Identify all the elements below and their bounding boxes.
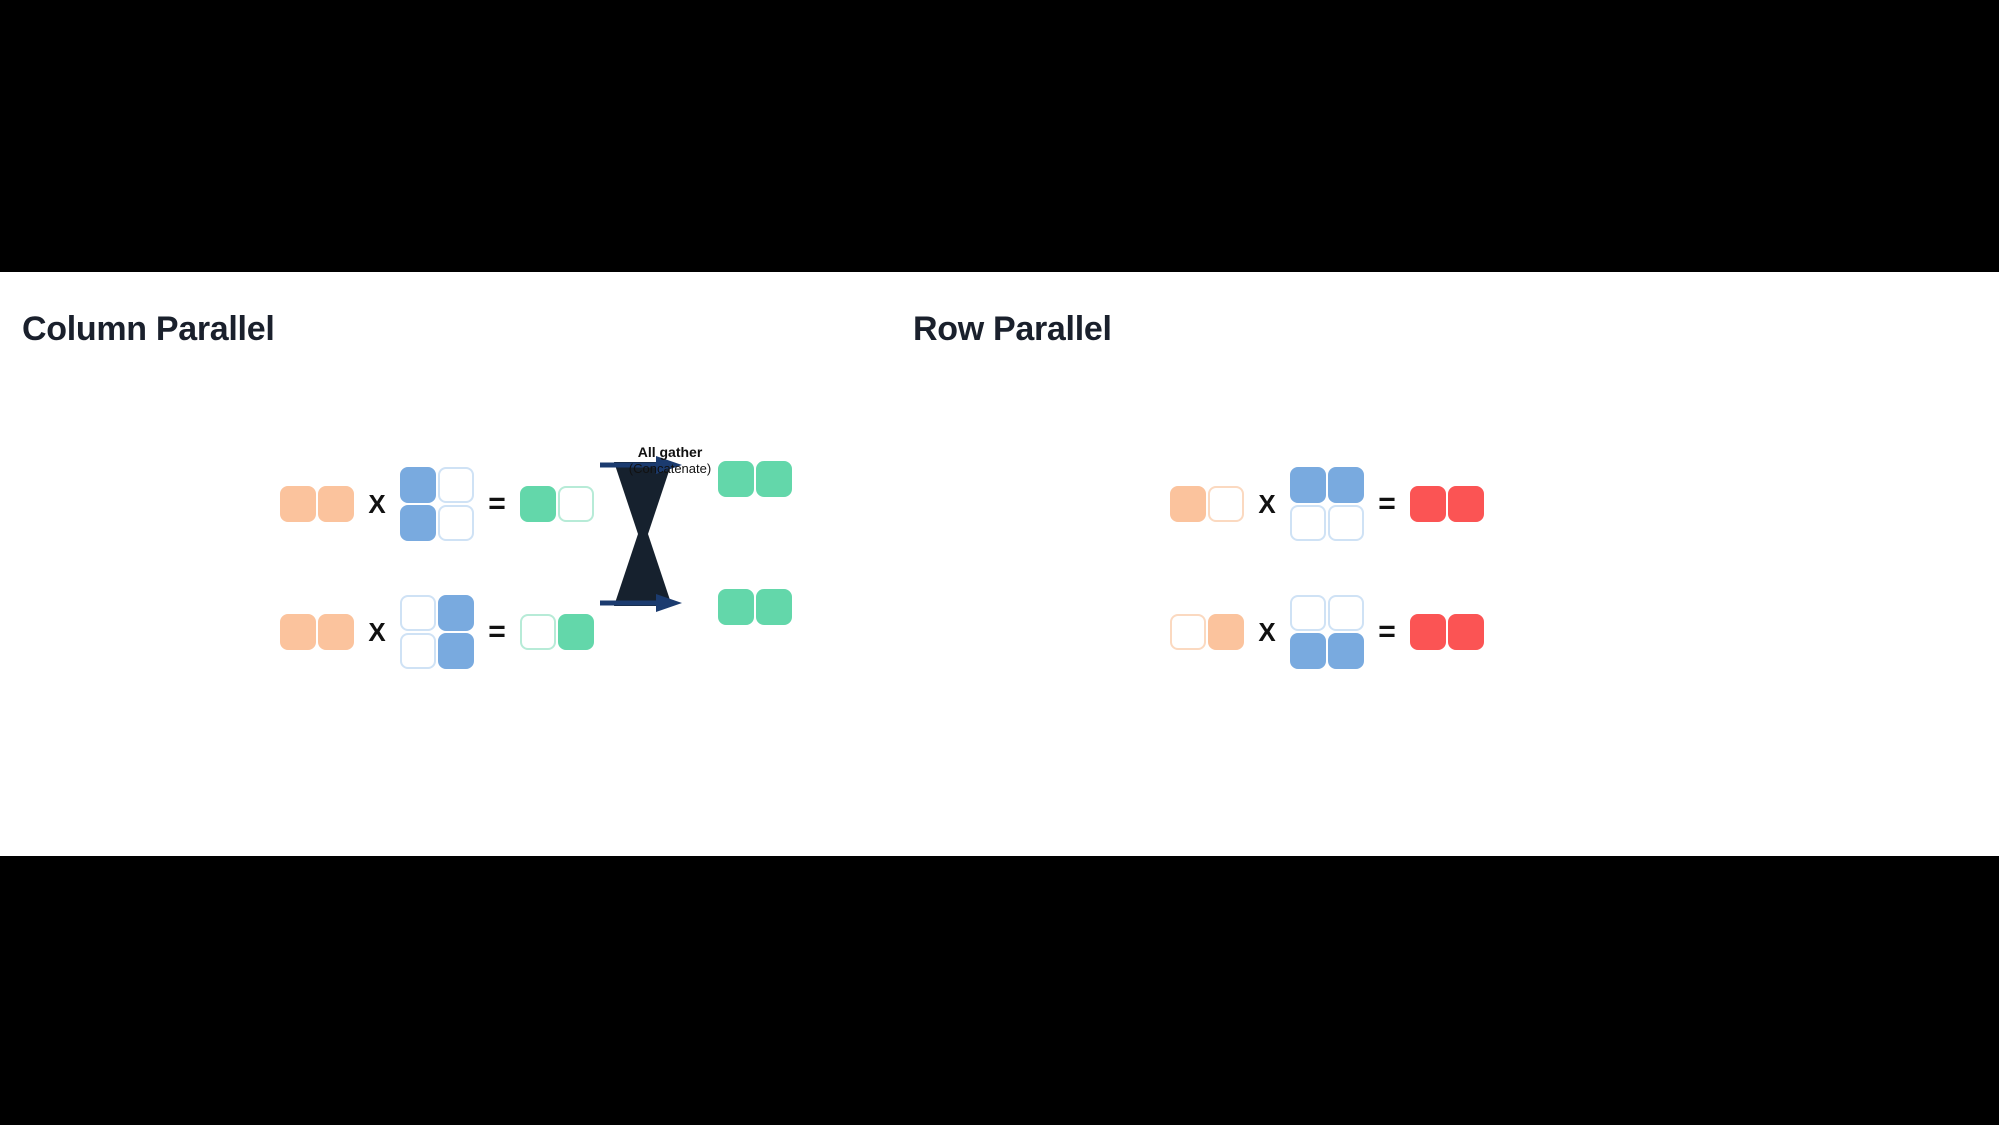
input-vector (280, 614, 354, 650)
equation-row: X = (280, 461, 594, 547)
result-cell (1448, 614, 1484, 650)
equation-row: X = (1170, 589, 1484, 675)
matrix-row (1290, 633, 1364, 669)
input-vector (1170, 486, 1244, 522)
result-cell (520, 614, 556, 650)
matrix-cell (400, 505, 436, 541)
matrix-row (400, 505, 474, 541)
matrix-cell (400, 595, 436, 631)
weight-matrix (1290, 467, 1364, 541)
equals-operator: = (474, 486, 520, 522)
equals-operator: = (1364, 486, 1410, 522)
multiply-operator: X (1244, 614, 1290, 650)
multiply-operator: X (1244, 486, 1290, 522)
equation-row: X = (1170, 461, 1484, 547)
matrix-cell (1290, 595, 1326, 631)
output-cell (718, 461, 754, 497)
result-cell (1410, 486, 1446, 522)
result-cell (1448, 486, 1484, 522)
weight-matrix (400, 595, 474, 669)
output-vector (718, 461, 792, 497)
vector-cell (318, 486, 354, 522)
vector-cell (1170, 486, 1206, 522)
equation-row: X = (280, 589, 594, 675)
output-vector (718, 589, 792, 625)
partial-result-vector (520, 486, 594, 522)
multiply-operator: X (354, 614, 400, 650)
input-vector (1170, 614, 1244, 650)
input-vector (280, 486, 354, 522)
matrix-cell (1328, 467, 1364, 503)
letterbox-top (0, 0, 1999, 272)
matrix-cell (1290, 505, 1326, 541)
slide-content: Column Parallel X (0, 272, 1999, 856)
matrix-cell (400, 633, 436, 669)
result-cell (558, 486, 594, 522)
output-cell (756, 589, 792, 625)
vector-cell (280, 614, 316, 650)
matrix-cell (1328, 505, 1364, 541)
output-vector-cells (718, 589, 792, 625)
matrix-cell (438, 505, 474, 541)
matrix-row (1290, 505, 1364, 541)
vector-cell (318, 614, 354, 650)
vector-cell (280, 486, 316, 522)
matrix-cell (438, 595, 474, 631)
matrix-row (400, 595, 474, 631)
partial-result-vector (1410, 614, 1484, 650)
vector-cell (1208, 614, 1244, 650)
matrix-cell (1328, 595, 1364, 631)
result-cell (1410, 614, 1446, 650)
vector-cell (1170, 614, 1206, 650)
equals-operator: = (474, 614, 520, 650)
matrix-cell (1290, 633, 1326, 669)
multiply-operator: X (354, 486, 400, 522)
section-title-column-parallel: Column Parallel (22, 310, 274, 349)
equals-operator: = (1364, 614, 1410, 650)
vector-cell (1208, 486, 1244, 522)
matrix-row (1290, 595, 1364, 631)
matrix-row (400, 467, 474, 503)
hourglass-icon (600, 454, 686, 614)
output-cell (756, 461, 792, 497)
matrix-row (1290, 467, 1364, 503)
collective-label-main: All gather (600, 444, 740, 461)
letterbox-bottom (0, 856, 1999, 1125)
result-cell (558, 614, 594, 650)
slide-canvas: Column Parallel X (0, 0, 1999, 1125)
section-title-row-parallel: Row Parallel (913, 310, 1112, 349)
matrix-cell (1328, 633, 1364, 669)
matrix-row (400, 633, 474, 669)
result-cell (520, 486, 556, 522)
output-vector-cells (718, 461, 792, 497)
matrix-cell (438, 467, 474, 503)
weight-matrix (1290, 595, 1364, 669)
matrix-cell (438, 633, 474, 669)
matrix-cell (400, 467, 436, 503)
output-cell (718, 589, 754, 625)
weight-matrix (400, 467, 474, 541)
partial-result-vector (520, 614, 594, 650)
matrix-cell (1290, 467, 1326, 503)
partial-result-vector (1410, 486, 1484, 522)
